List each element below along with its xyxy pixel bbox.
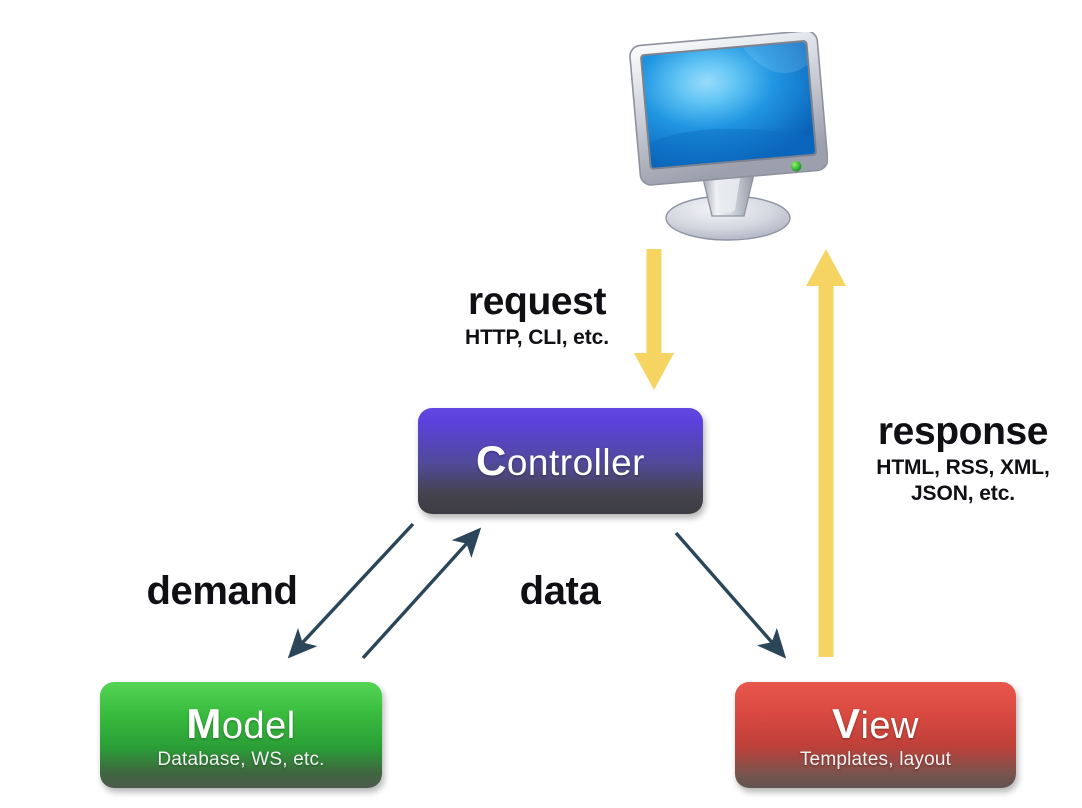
view-box[interactable]: View Templates, layout [735,682,1016,788]
model-box-subtitle: Database, WS, etc. [157,749,324,771]
model-return-arrow [363,531,478,658]
view-box-title: View [832,703,919,746]
controller-box[interactable]: Controller [418,408,703,514]
view-box-subtitle: Templates, layout [800,749,951,771]
response-label-subtitle-line1: HTML, RSS, XML, [858,455,1068,481]
controller-box-title-capital: C [476,437,507,484]
demand-label: demand [132,570,312,612]
mvc-diagram-canvas: request HTTP, CLI, etc. response HTML, R… [0,0,1082,808]
view-box-title-capital: V [832,700,861,747]
view-box-title-rest: iew [860,705,919,747]
request-arrow [633,249,675,391]
data-label-title: data [495,570,625,612]
response-arrow [805,249,847,657]
demand-label-title: demand [132,570,312,612]
response-label-subtitle-line2: JSON, etc. [858,481,1068,507]
computer-monitor-icon [628,32,828,247]
response-label-title: response [858,412,1068,453]
response-label: response HTML, RSS, XML, JSON, etc. [858,412,1068,506]
controller-box-title-rest: ontroller [507,442,645,483]
data-label: data [495,570,625,612]
controller-box-title: Controller [476,440,645,483]
model-box-title: Model [186,703,295,746]
request-label: request HTTP, CLI, etc. [442,282,632,351]
data-arrow [676,533,783,655]
request-label-title: request [442,282,632,323]
request-label-subtitle: HTTP, CLI, etc. [442,325,632,351]
model-box[interactable]: Model Database, WS, etc. [100,682,382,788]
model-box-title-rest: odel [222,705,296,747]
model-box-title-capital: M [186,700,222,747]
